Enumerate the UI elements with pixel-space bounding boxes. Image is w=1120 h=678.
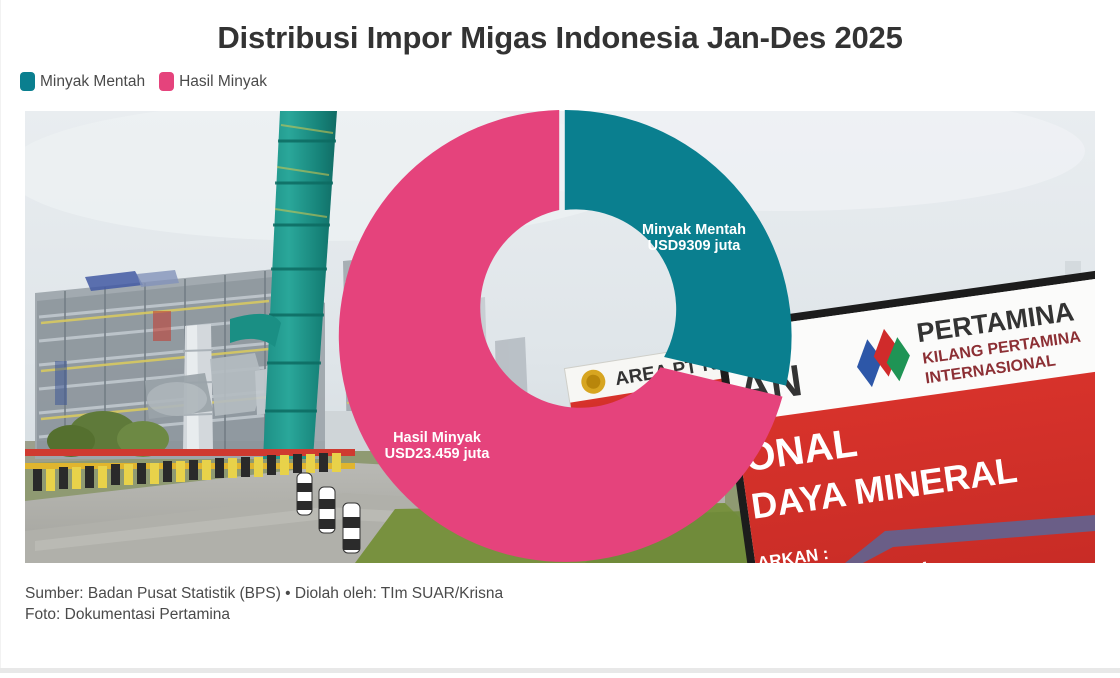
chart-legend: Minyak Mentah Hasil Minyak: [20, 72, 267, 91]
page-left-edge: [0, 0, 1, 673]
legend-item-minyak-mentah[interactable]: Minyak Mentah: [20, 72, 145, 91]
footer-source-line: Sumber: Badan Pusat Statistik (BPS) • Di…: [25, 583, 925, 604]
photo-figure: AREA PT KPI OB JE BIDANG AN: [25, 111, 1095, 563]
legend-swatch-icon: [20, 72, 35, 91]
page-title: Distribusi Impor Migas Indonesia Jan-Des…: [0, 20, 1120, 56]
legend-item-label: Minyak Mentah: [40, 73, 145, 91]
footer-credits: Sumber: Badan Pusat Statistik (BPS) • Di…: [25, 583, 925, 625]
footer-photo-line: Foto: Dokumentasi Pertamina: [25, 604, 925, 625]
legend-item-label: Hasil Minyak: [179, 73, 267, 91]
legend-item-hasil-minyak[interactable]: Hasil Minyak: [159, 72, 267, 91]
refinery-photo: AREA PT KPI OB JE BIDANG AN: [25, 111, 1095, 563]
bottom-strip: [0, 668, 1120, 673]
infographic-page: Distribusi Impor Migas Indonesia Jan-Des…: [0, 0, 1120, 673]
legend-swatch-icon: [159, 72, 174, 91]
svg-text:AN: AN: [736, 356, 806, 413]
